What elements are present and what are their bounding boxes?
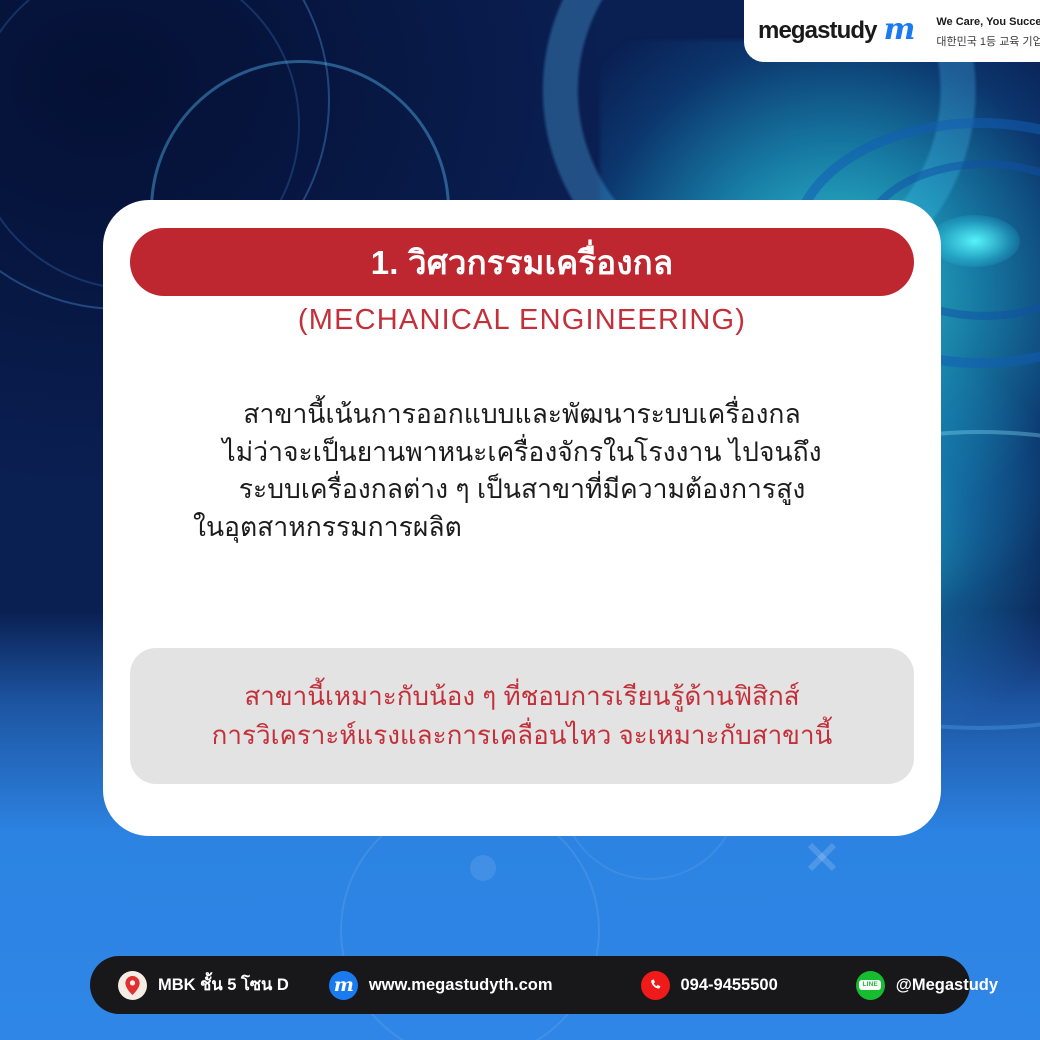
page-title: 1. วิศวกรรมเครื่องกล [371,236,674,289]
watermark-dot [470,855,496,881]
title-banner: 1. วิศวกรรมเครื่องกล [130,228,914,296]
megastudy-m-icon: m [884,15,914,45]
footer-line[interactable]: LINE @Megastudy [856,971,998,1000]
footer-website-label: www.megastudyth.com [369,976,553,995]
body-line-4: ในอุตสาหกรรมการผลิต [155,509,889,547]
body-line-1: สาขานี้เน้นการออกแบบและพัฒนาระบบเครื่องก… [155,396,889,434]
machine-ring-core-glow [930,215,1020,267]
content-card: 1. วิศวกรรมเครื่องกล (MECHANICAL ENGINEE… [103,200,941,836]
footer-phone-label: 094-9455500 [681,976,778,995]
note-line-2: การวิเคราะห์แรงและการเคลื่อนไหว จะเหมาะก… [212,716,833,755]
body-line-3: ระบบเครื่องกลต่าง ๆ เป็นสาขาที่มีความต้อ… [155,471,889,509]
line-badge-text: LINE [859,980,881,990]
phone-icon [641,971,670,1000]
highlight-note-box: สาขานี้เหมาะกับน้อง ๆ ที่ชอบการเรียนรู้ด… [130,648,914,784]
contact-footer-bar: MBK ชั้น 5 โซน D m www.megastudyth.com 0… [90,956,970,1014]
megastudy-icon: m [329,971,358,1000]
footer-line-label: @Megastudy [896,976,998,995]
body-paragraph: สาขานี้เน้นการออกแบบและพัฒนาระบบเครื่องก… [155,396,889,547]
brand-logo-plate: megastudy m We Care, You Succeed 대한민국 1등… [744,0,1040,62]
tagline-korean: 대한민국 1등 교육 기업 [936,36,1040,48]
location-pin-icon [118,971,147,1000]
megastudy-m-glyph: m [334,976,353,995]
watermark-x [805,840,839,874]
body-line-2: ไม่ว่าจะเป็นยานพาหนะเครื่องจักรในโรงงาน … [155,434,889,472]
brand-tagline: We Care, You Succeed 대한민국 1등 교육 기업 [936,11,1040,51]
footer-website[interactable]: m www.megastudyth.com [329,971,553,1000]
line-app-icon: LINE [856,971,885,1000]
page-subtitle: (MECHANICAL ENGINEERING) [103,304,941,337]
footer-location-label: MBK ชั้น 5 โซน D [158,972,289,998]
note-line-1: สาขานี้เหมาะกับน้อง ๆ ที่ชอบการเรียนรู้ด… [244,677,799,716]
tagline-english: We Care, You Succeed [936,16,1040,28]
footer-phone[interactable]: 094-9455500 [641,971,778,1000]
brand-wordmark: megastudy [758,17,877,45]
footer-location[interactable]: MBK ชั้น 5 โซน D [118,971,289,1000]
